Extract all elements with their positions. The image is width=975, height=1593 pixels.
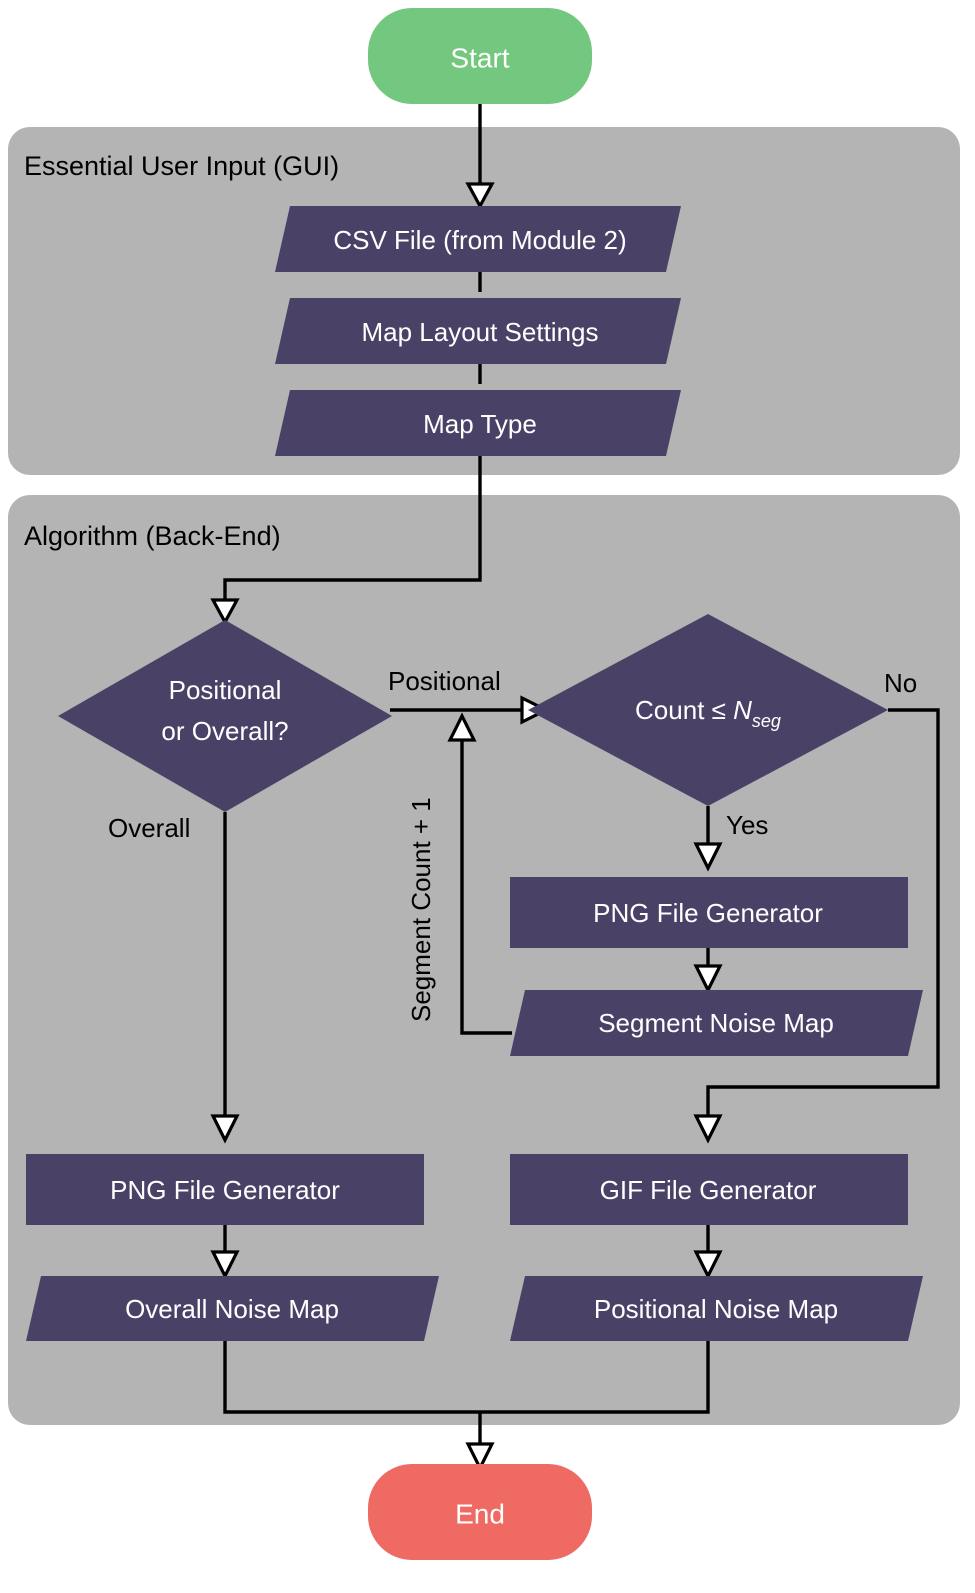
start-label: Start xyxy=(450,43,509,74)
node-gif-file-generator[interactable]: GIF File Generator xyxy=(510,1154,908,1225)
decision-mode-label-line2: or Overall? xyxy=(161,716,288,746)
node-png-file-generator-segment[interactable]: PNG File Generator xyxy=(510,877,908,948)
positional-noise-map-label: Positional Noise Map xyxy=(594,1294,838,1324)
segment-noise-map-label: Segment Noise Map xyxy=(598,1008,834,1038)
gif-generator-label: GIF File Generator xyxy=(600,1175,817,1205)
overall-noise-map-label: Overall Noise Map xyxy=(125,1294,339,1324)
edge-label-overall: Overall xyxy=(108,813,190,843)
node-overall-noise-map[interactable]: Overall Noise Map xyxy=(26,1276,439,1341)
edge-label-yes: Yes xyxy=(726,810,768,840)
edge-label-no: No xyxy=(884,668,917,698)
node-map-layout-settings[interactable]: Map Layout Settings xyxy=(275,298,681,364)
node-segment-noise-map[interactable]: Segment Noise Map xyxy=(510,990,923,1056)
decision-count-subscript: seg xyxy=(752,711,781,731)
flowchart-canvas: Essential User Input (GUI) Algorithm (Ba… xyxy=(0,0,975,1593)
node-end[interactable]: End xyxy=(368,1464,592,1560)
png-generator-segment-label: PNG File Generator xyxy=(593,898,823,928)
node-map-type[interactable]: Map Type xyxy=(275,390,681,456)
decision-count-var: N xyxy=(733,695,752,725)
map-layout-label: Map Layout Settings xyxy=(361,317,598,347)
png-generator-overall-label: PNG File Generator xyxy=(110,1175,340,1205)
group-backend-label: Algorithm (Back-End) xyxy=(24,521,281,551)
node-start[interactable]: Start xyxy=(368,8,592,104)
edge-label-positional: Positional xyxy=(388,666,501,696)
node-csv-file[interactable]: CSV File (from Module 2) xyxy=(275,206,681,272)
node-png-file-generator-overall[interactable]: PNG File Generator xyxy=(26,1154,424,1225)
map-type-label: Map Type xyxy=(423,409,537,439)
csv-file-label: CSV File (from Module 2) xyxy=(333,225,626,255)
group-gui-label: Essential User Input (GUI) xyxy=(24,151,339,181)
decision-mode-label-line1: Positional xyxy=(169,675,282,705)
end-label: End xyxy=(455,1499,505,1530)
flowchart-svg: Essential User Input (GUI) Algorithm (Ba… xyxy=(0,0,975,1593)
decision-count-prefix: Count ≤ xyxy=(635,695,733,725)
edge-label-segment-count-increment: Segment Count + 1 xyxy=(406,797,436,1022)
node-positional-noise-map[interactable]: Positional Noise Map xyxy=(510,1276,923,1341)
